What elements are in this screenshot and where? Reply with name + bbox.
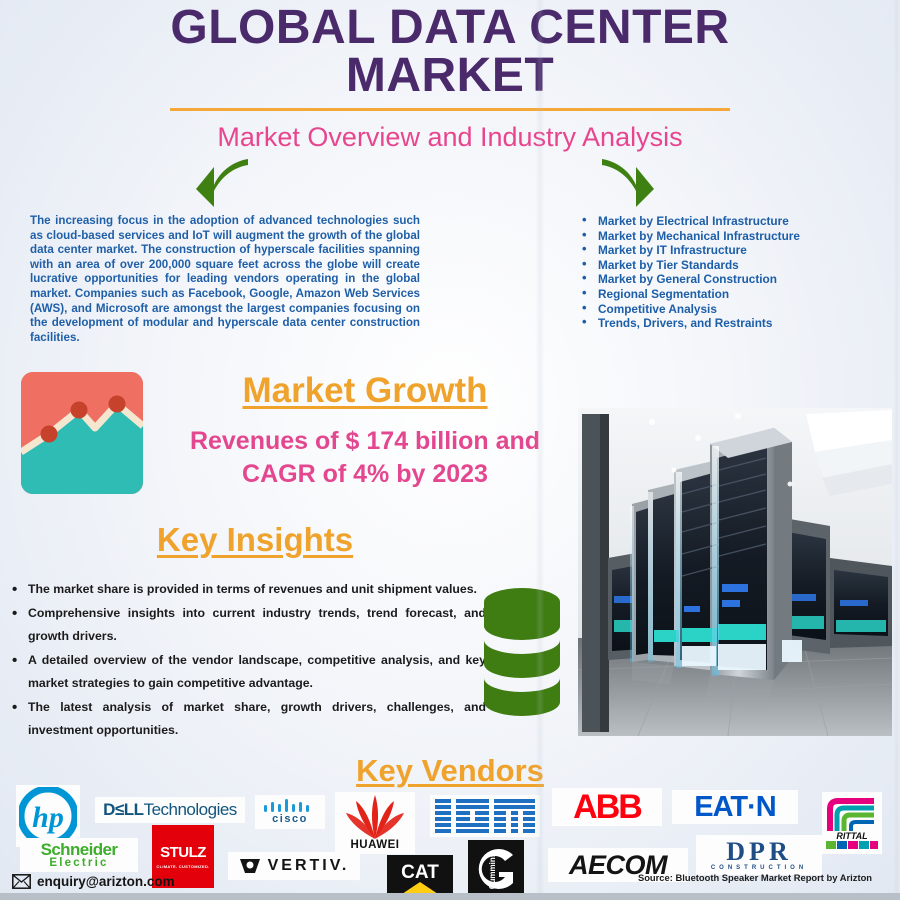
list-item: Trends, Drivers, and Restraints xyxy=(578,316,898,331)
list-item: Market by IT Infrastructure xyxy=(578,243,898,258)
dell-technologies-wordmark: Technologies xyxy=(144,800,237,820)
cat-icon: CAT xyxy=(389,856,451,896)
list-item: Market by Electrical Infrastructure xyxy=(578,214,898,229)
list-item: Market by Mechanical Infrastructure xyxy=(578,229,898,244)
vendor-logo-vertiv[interactable]: VERTIV. xyxy=(228,852,360,880)
list-item: The market share is provided in terms of… xyxy=(8,578,486,601)
intro-paragraph: The increasing focus in the adoption of … xyxy=(30,214,420,345)
database-icon xyxy=(484,588,560,725)
huawei-wordmark: HUAWEI xyxy=(351,839,400,851)
page-title: GLOBAL DATA CENTER MARKET xyxy=(60,4,840,100)
dpr-construction-wordmark: CONSTRUCTION xyxy=(711,865,807,871)
vendor-logo-rittal[interactable]: RITTAL xyxy=(822,792,882,854)
cisco-wordmark: cisco xyxy=(272,813,308,825)
market-segments-list: Market by Electrical Infrastructure Mark… xyxy=(578,214,898,331)
infographic-poster: GLOBAL DATA CENTER MARKET Market Overvie… xyxy=(0,0,900,900)
svg-text:Cummins: Cummins xyxy=(488,852,497,889)
key-insights-heading: Key Insights xyxy=(40,520,470,560)
vendor-logo-cisco[interactable]: cisco xyxy=(255,795,325,829)
list-item: A detailed overview of the vendor landsc… xyxy=(8,649,486,695)
data-center-server-room-photo xyxy=(578,408,892,736)
rittal-bars-icon xyxy=(826,797,878,831)
cisco-bars-icon xyxy=(262,799,318,812)
svg-text:CAT: CAT xyxy=(401,862,439,883)
hp-icon: hp xyxy=(19,787,77,845)
vendor-logo-dpr[interactable]: DPR CONSTRUCTION xyxy=(696,835,822,875)
cummins-icon: Cummins xyxy=(469,841,523,897)
vendor-logo-caterpillar[interactable]: CAT xyxy=(387,855,453,897)
stulz-tagline: CLIMATE. CUSTOMIZED. xyxy=(156,864,209,869)
source-attribution: Source: Bluetooth Speaker Market Report … xyxy=(620,872,890,884)
vendor-logo-dell[interactable]: D≤LLTechnologies xyxy=(95,797,245,823)
stulz-wordmark: STULZ xyxy=(157,844,209,861)
vertiv-mark-icon xyxy=(239,857,261,875)
abb-wordmark: ABB xyxy=(573,788,641,826)
bottom-band xyxy=(0,893,900,900)
list-item: The latest analysis of market share, gro… xyxy=(8,696,486,742)
page-subtitle: Market Overview and Industry Analysis xyxy=(60,120,840,154)
list-item: Market by Tier Standards xyxy=(578,258,898,273)
huawei-flower-icon xyxy=(344,795,406,839)
list-item: Competitive Analysis xyxy=(578,302,898,317)
list-item: Regional Segmentation xyxy=(578,287,898,302)
list-item: Comprehensive insights into current indu… xyxy=(8,602,486,648)
vendor-logo-eaton[interactable]: EAT·N xyxy=(672,790,798,824)
vendor-logo-ibm[interactable] xyxy=(430,795,540,837)
contact-email[interactable]: enquiry@arizton.com xyxy=(12,874,175,889)
schneider-wordmark: Schneider xyxy=(41,841,118,858)
rittal-wordmark: RITTAL xyxy=(836,831,867,841)
contact-email-text: enquiry@arizton.com xyxy=(37,874,175,889)
ibm-icon xyxy=(435,799,535,833)
envelope-icon xyxy=(12,874,31,889)
curved-arrow-down-right-icon xyxy=(600,157,666,214)
dpr-wordmark: DPR xyxy=(726,839,791,865)
market-growth-heading: Market Growth xyxy=(155,370,575,412)
rittal-color-bar-icon xyxy=(826,841,878,849)
svg-text:hp: hp xyxy=(32,801,64,834)
vertiv-wordmark: VERTIV. xyxy=(268,857,350,875)
curved-arrow-down-left-icon xyxy=(186,157,252,214)
vendor-logo-huawei[interactable]: HUAWEI xyxy=(335,792,415,854)
key-vendors-heading: Key Vendors xyxy=(235,752,665,790)
key-insights-list: The market share is provided in terms of… xyxy=(8,578,486,743)
title-divider xyxy=(170,108,730,111)
schneider-electric-wordmark: Electric xyxy=(49,858,108,870)
dell-wordmark: D≤LL xyxy=(103,800,143,820)
vendor-logo-abb[interactable]: ABB xyxy=(552,788,662,826)
vendor-logo-cummins[interactable]: Cummins xyxy=(468,840,524,898)
vendor-logo-schneider[interactable]: Schneider Electric xyxy=(20,838,138,872)
line-chart-icon xyxy=(21,372,143,494)
list-item: Market by General Construction xyxy=(578,272,898,287)
eaton-wordmark: EAT·N xyxy=(694,791,775,824)
market-growth-statement: Revenues of $ 174 billion and CAGR of 4%… xyxy=(155,425,575,491)
